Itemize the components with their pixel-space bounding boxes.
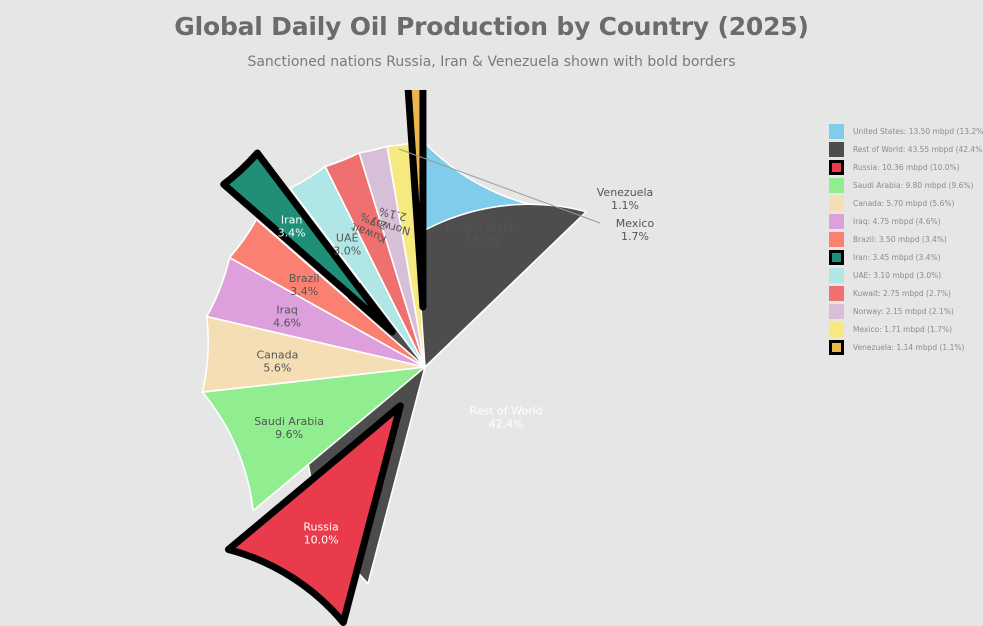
legend-swatch	[829, 304, 844, 319]
legend-label: Russia: 10.36 mbpd (10.0%)	[853, 163, 960, 172]
slice-label-brazil: Brazil3.4%	[289, 272, 320, 298]
legend-item-rest-of-world[interactable]: Rest of World: 43.55 mbpd (42.4%)	[829, 140, 983, 158]
chart-title: Global Daily Oil Production by Country (…	[0, 12, 983, 41]
slice-label-russia: Russia10.0%	[303, 521, 338, 547]
legend-label: Iran: 3.45 mbpd (3.4%)	[853, 253, 941, 262]
slice-label-percent: 13.2%	[465, 234, 500, 247]
slice-label-name: Canada	[256, 349, 298, 362]
legend-label: Iraq: 4.75 mbpd (4.6%)	[853, 217, 941, 226]
slice-label-percent: 3.4%	[278, 227, 306, 240]
slice-label-venezuela: Venezuela1.1%	[597, 186, 654, 212]
legend-item-saudi-arabia[interactable]: Saudi Arabia: 9.80 mbpd (9.6%)	[829, 176, 983, 194]
legend-item-russia[interactable]: Russia: 10.36 mbpd (10.0%)	[829, 158, 983, 176]
legend-swatch	[829, 322, 844, 337]
legend-label: United States: 13.50 mbpd (13.2%)	[853, 127, 983, 136]
slice-label-percent: 5.6%	[263, 362, 291, 375]
legend-item-iran[interactable]: Iran: 3.45 mbpd (3.4%)	[829, 248, 983, 266]
slice-label-name: Iran	[281, 214, 303, 227]
slice-label-name: Iraq	[276, 304, 298, 317]
chart-legend: United States: 13.50 mbpd (13.2%)Rest of…	[829, 122, 983, 356]
slice-label-name: Rest of World	[470, 405, 543, 418]
chart-subtitle: Sanctioned nations Russia, Iran & Venezu…	[0, 54, 983, 70]
legend-item-kuwait[interactable]: Kuwait: 2.75 mbpd (2.7%)	[829, 284, 983, 302]
legend-label: Norway: 2.15 mbpd (2.1%)	[853, 307, 954, 316]
slice-label-name: Saudi Arabia	[254, 415, 324, 428]
legend-label: Kuwait: 2.75 mbpd (2.7%)	[853, 289, 951, 298]
legend-swatch	[829, 178, 844, 193]
slice-label-percent: 1.7%	[621, 230, 649, 243]
legend-swatch	[829, 214, 844, 229]
legend-item-uae[interactable]: UAE: 3.10 mbpd (3.0%)	[829, 266, 983, 284]
pie-plot-area: United States13.2%Rest of World42.4%Russ…	[0, 90, 820, 626]
legend-item-venezuela[interactable]: Venezuela: 1.14 mbpd (1.1%)	[829, 338, 983, 356]
chart-figure: Global Daily Oil Production by Country (…	[0, 0, 983, 626]
slice-label-percent: 10.0%	[304, 534, 339, 547]
slice-label-mexico: Mexico1.7%	[616, 217, 655, 243]
legend-item-norway[interactable]: Norway: 2.15 mbpd (2.1%)	[829, 302, 983, 320]
slice-label-percent: 3.0%	[333, 244, 361, 257]
slice-label-percent: 3.4%	[290, 285, 318, 298]
legend-item-canada[interactable]: Canada: 5.70 mbpd (5.6%)	[829, 194, 983, 212]
legend-item-iraq[interactable]: Iraq: 4.75 mbpd (4.6%)	[829, 212, 983, 230]
legend-swatch	[829, 268, 844, 283]
slice-label-name: Russia	[303, 521, 338, 534]
slice-label-iraq: Iraq4.6%	[273, 304, 301, 330]
legend-item-united-states[interactable]: United States: 13.50 mbpd (13.2%)	[829, 122, 983, 140]
pie-svg: United States13.2%Rest of World42.4%Russ…	[0, 90, 820, 626]
slice-label-name: Brazil	[289, 272, 320, 285]
legend-swatch	[829, 124, 844, 139]
slice-label-rest-of-world: Rest of World42.4%	[470, 405, 543, 431]
legend-label: Saudi Arabia: 9.80 mbpd (9.6%)	[853, 181, 973, 190]
slice-label-percent: 4.6%	[273, 317, 301, 330]
legend-label: UAE: 3.10 mbpd (3.0%)	[853, 271, 941, 280]
legend-label: Venezuela: 1.14 mbpd (1.1%)	[853, 343, 964, 352]
legend-swatch	[829, 340, 844, 355]
legend-label: Rest of World: 43.55 mbpd (42.4%)	[853, 145, 983, 154]
legend-swatch	[829, 196, 844, 211]
legend-swatch	[829, 160, 844, 175]
slice-label-name: Venezuela	[597, 186, 654, 199]
slice-label-iran: Iran3.4%	[278, 214, 306, 240]
legend-item-mexico[interactable]: Mexico: 1.71 mbpd (1.7%)	[829, 320, 983, 338]
slice-label-percent: 42.4%	[489, 418, 524, 431]
legend-swatch	[829, 232, 844, 247]
slice-label-name: United States	[446, 221, 521, 234]
legend-swatch	[829, 142, 844, 157]
slice-label-name: Mexico	[616, 217, 655, 230]
slice-label-percent: 9.6%	[275, 428, 303, 441]
legend-label: Mexico: 1.71 mbpd (1.7%)	[853, 325, 952, 334]
slice-label-percent: 1.1%	[611, 199, 639, 212]
legend-label: Canada: 5.70 mbpd (5.6%)	[853, 199, 954, 208]
legend-swatch	[829, 286, 844, 301]
legend-item-brazil[interactable]: Brazil: 3.50 mbpd (3.4%)	[829, 230, 983, 248]
legend-label: Brazil: 3.50 mbpd (3.4%)	[853, 235, 947, 244]
legend-swatch	[829, 250, 844, 265]
